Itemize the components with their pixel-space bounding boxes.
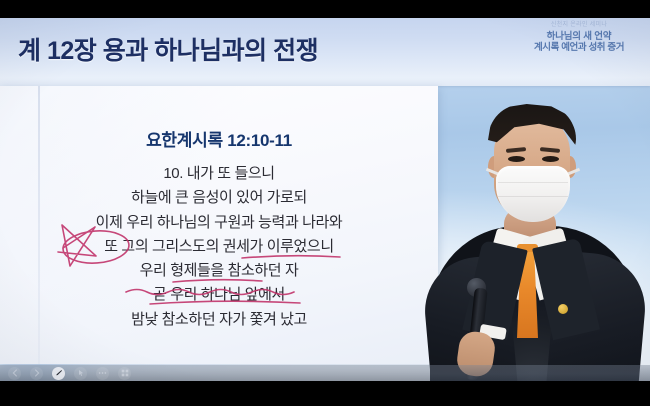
presentation-control-bar[interactable] [0, 365, 650, 381]
presenter-figure [418, 82, 650, 381]
video-player-stage: 계 12장 용과 하나님과의 전쟁 신천지 온라인 세미나 하나님의 새 언약 … [0, 0, 650, 406]
more-options-button[interactable] [96, 367, 109, 380]
slide-board: 요한계시록 12:10-11 10. 내가 또 들으니 하늘에 큰 음성이 있어… [0, 86, 438, 364]
presenter-mask-fold [498, 196, 568, 197]
presenter-eye-right [542, 156, 559, 162]
presenter-eye-left [508, 156, 525, 162]
chevron-left-icon [12, 369, 18, 377]
ellipsis-icon [98, 371, 107, 375]
grid-view-button[interactable] [118, 367, 131, 380]
slide-scripture-body: 10. 내가 또 들으니 하늘에 큰 음성이 있어 가로되 이제 우리 하나님의… [0, 162, 438, 332]
prev-slide-button[interactable] [8, 367, 21, 380]
program-logo: 신천지 온라인 세미나 하나님의 새 언약 계시록 예언과 성취 증거 [519, 22, 639, 54]
slide-scripture-heading: 요한계시록 12:10-11 [0, 126, 438, 151]
header-title: 계 12장 용과 하나님과의 전쟁 [18, 31, 318, 67]
presenter-lapel-badge [558, 304, 568, 314]
letterbox-top [0, 0, 650, 18]
video-frame[interactable]: 계 12장 용과 하나님과의 전쟁 신천지 온라인 세미나 하나님의 새 언약 … [0, 18, 650, 381]
grid-icon [121, 369, 129, 377]
pointer-icon [77, 369, 85, 377]
slide-line: 또 그의 그리스도의 권세가 이루었으니 [0, 235, 438, 259]
next-slide-button[interactable] [30, 367, 43, 380]
pointer-tool-button[interactable] [74, 367, 87, 380]
slide-line: 우리 형제들을 참소하던 자 [0, 259, 438, 283]
slide-line: 이제 우리 하나님의 구원과 능력과 나라와 [0, 211, 438, 235]
program-logo-line-3: 계시록 예언과 성취 증거 [519, 42, 639, 54]
pen-icon [55, 369, 63, 377]
pen-tool-button[interactable] [52, 367, 65, 380]
chevron-right-icon [34, 369, 40, 377]
letterbox-bottom [0, 381, 650, 406]
program-logo-line-2: 하나님의 새 언약 [519, 31, 639, 43]
slide-line: 밤낮 참소하던 자가 쫓겨 났고 [0, 308, 438, 332]
program-logo-line-1: 신천지 온라인 세미나 [519, 22, 639, 30]
slide-line: 10. 내가 또 들으니 [0, 162, 438, 186]
broadcast-header-banner: 계 12장 용과 하나님과의 전쟁 신천지 온라인 세미나 하나님의 새 언약 … [0, 18, 650, 86]
slide-line: 곧 우리 하나님 앞에서 [0, 283, 438, 307]
presenter-mask-fold [498, 182, 568, 183]
slide-line: 하늘에 큰 음성이 있어 가로되 [0, 186, 438, 210]
